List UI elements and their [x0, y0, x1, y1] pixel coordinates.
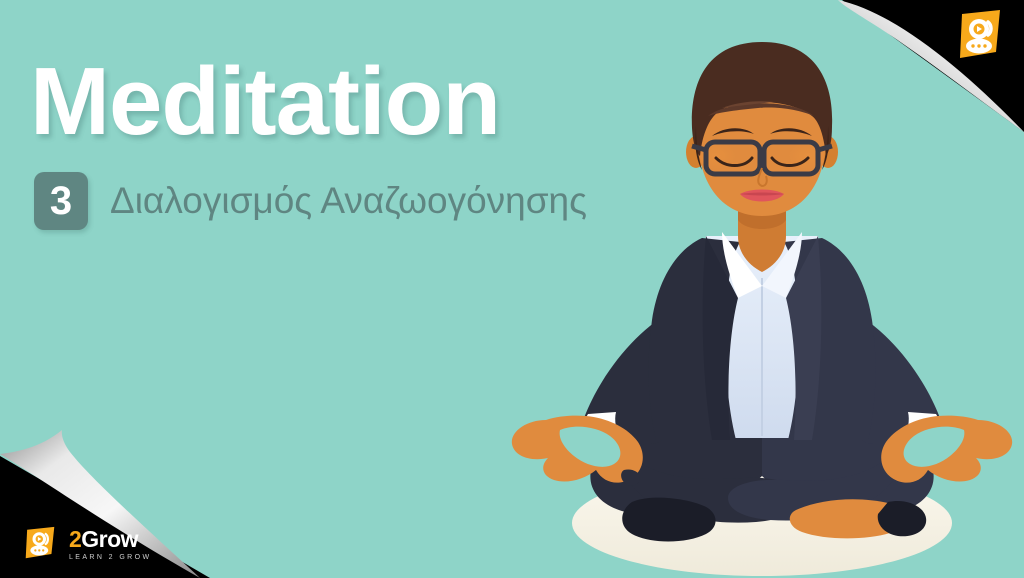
lesson-number-badge: 3	[34, 172, 88, 230]
2grow-g-logo-icon	[20, 524, 60, 564]
brand-tagline: LEARN 2 GROW	[69, 554, 151, 561]
head	[686, 42, 838, 216]
title-block: Meditation 3 Διαλογισμός Αναζωογόνησης	[30, 54, 650, 230]
brand-logo-bottom-left[interactable]: 2Grow LEARN 2 GROW	[20, 524, 151, 564]
brand-wordmark: 2Grow LEARN 2 GROW	[69, 528, 151, 561]
page-subtitle: Διαλογισμός Αναζωογόνησης	[110, 180, 587, 222]
subtitle-row: 3 Διαλογισμός Αναζωογόνησης	[34, 172, 650, 230]
brand-mark-top-right[interactable]	[950, 8, 1006, 64]
brand-wordmark-accent: 2	[69, 526, 81, 552]
brand-wordmark-rest: Grow	[81, 526, 138, 552]
page-title: Meditation	[30, 54, 650, 150]
slide-canvas: Meditation 3 Διαλογισμός Αναζωογόνησης	[0, 0, 1024, 578]
2grow-g-logo-icon	[950, 8, 1006, 64]
brand-wordmark-text: 2Grow	[69, 528, 151, 551]
torso	[649, 190, 876, 440]
